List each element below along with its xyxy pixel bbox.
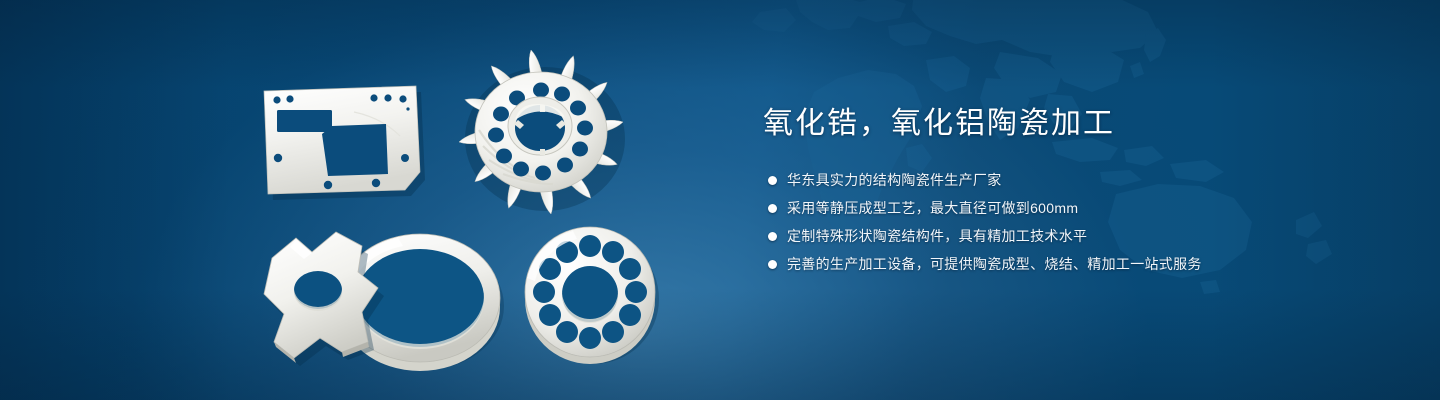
bullet-dot-icon: [768, 204, 777, 213]
list-item-label: 定制特殊形状陶瓷结构件，具有精加工技术水平: [787, 226, 1087, 246]
ceramic-plate-with-cutouts: [258, 82, 426, 200]
list-item-label: 采用等静压成型工艺，最大直径可做到600mm: [787, 198, 1078, 218]
list-item: 采用等静压成型工艺，最大直径可做到600mm: [763, 198, 1383, 218]
page-title: 氧化锆，氧化铝陶瓷加工: [763, 104, 1383, 144]
ceramic-impeller-disc: [455, 48, 631, 214]
feature-list: 华东具实力的结构陶瓷件生产厂家 采用等静压成型工艺，最大直径可做到600mm 定…: [763, 170, 1383, 274]
bullet-dot-icon: [768, 232, 777, 241]
list-item-label: 完善的生产加工设备，可提供陶瓷成型、烧结、精加工一站式服务: [787, 254, 1202, 274]
list-item-label: 华东具实力的结构陶瓷件生产厂家: [787, 170, 1002, 190]
list-item: 完善的生产加工设备，可提供陶瓷成型、烧结、精加工一站式服务: [763, 254, 1383, 274]
bullet-dot-icon: [768, 176, 777, 185]
list-item: 定制特殊形状陶瓷结构件，具有精加工技术水平: [763, 226, 1383, 246]
bullet-dot-icon: [768, 260, 777, 269]
hero-banner: 氧化锆，氧化铝陶瓷加工 华东具实力的结构陶瓷件生产厂家 采用等静压成型工艺，最大…: [0, 0, 1440, 400]
ceramic-cross-plate: [252, 228, 412, 376]
ceramic-perforated-disc: [520, 222, 664, 368]
banner-copy: 氧化锆，氧化铝陶瓷加工 华东具实力的结构陶瓷件生产厂家 采用等静压成型工艺，最大…: [763, 104, 1383, 282]
list-item: 华东具实力的结构陶瓷件生产厂家: [763, 170, 1383, 190]
